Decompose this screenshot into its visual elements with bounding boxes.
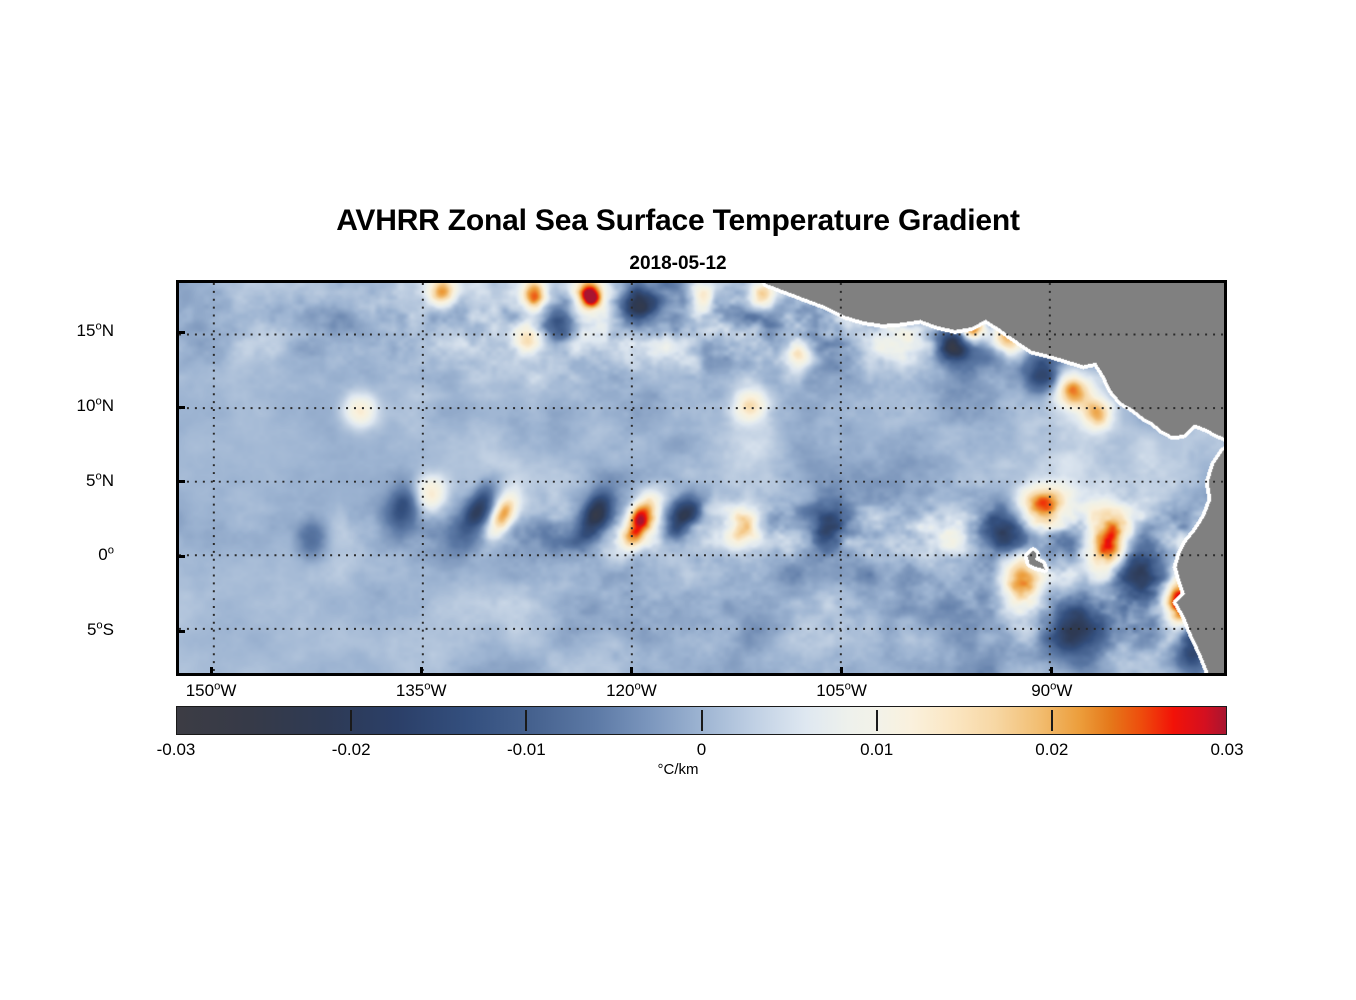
y-tick-label: 15oN [77, 321, 114, 341]
figure-canvas: AVHRR Zonal Sea Surface Temperature Grad… [0, 0, 1356, 1000]
colorbar-tick-label: 0.01 [860, 740, 893, 760]
y-tick-label: 0o [98, 545, 114, 565]
x-tick-mark [630, 667, 633, 676]
x-tick-label: 90oW [1031, 681, 1072, 701]
figure-subtitle: 2018-05-12 [0, 253, 1356, 275]
y-tick-mark [176, 331, 185, 334]
x-tick-mark [420, 667, 423, 676]
colorbar-tick-label: -0.03 [157, 740, 196, 760]
map-axes[interactable] [176, 280, 1227, 676]
page-title: AVHRR Zonal Sea Surface Temperature Grad… [0, 204, 1356, 238]
colorbar-unit-label: °C/km [0, 761, 1356, 778]
y-tick-mark [176, 555, 185, 558]
sst-gradient-heatmap [179, 283, 1224, 673]
y-tick-label: 10oN [77, 396, 114, 416]
colorbar-tick [876, 710, 878, 731]
x-tick-label: 150oW [186, 681, 237, 701]
colorbar[interactable] [176, 706, 1227, 735]
x-tick-label: 135oW [396, 681, 447, 701]
y-tick-label: 5oS [87, 620, 114, 640]
y-tick-label: 5oN [86, 471, 114, 491]
x-tick-mark [210, 667, 213, 676]
colorbar-tick-label: 0.03 [1210, 740, 1243, 760]
colorbar-tick-label: -0.01 [507, 740, 546, 760]
x-tick-label: 120oW [606, 681, 657, 701]
y-tick-mark [176, 480, 185, 483]
y-tick-mark [176, 630, 185, 633]
colorbar-tick [525, 710, 527, 731]
colorbar-tick-label: 0 [697, 740, 706, 760]
x-tick-mark [1050, 667, 1053, 676]
colorbar-tick [1051, 710, 1053, 731]
x-tick-mark [840, 667, 843, 676]
colorbar-tick-label: 0.02 [1035, 740, 1068, 760]
colorbar-tick [701, 710, 703, 731]
colorbar-tick-label: -0.02 [332, 740, 371, 760]
y-tick-mark [176, 406, 185, 409]
colorbar-tick [350, 710, 352, 731]
x-tick-label: 105oW [816, 681, 867, 701]
